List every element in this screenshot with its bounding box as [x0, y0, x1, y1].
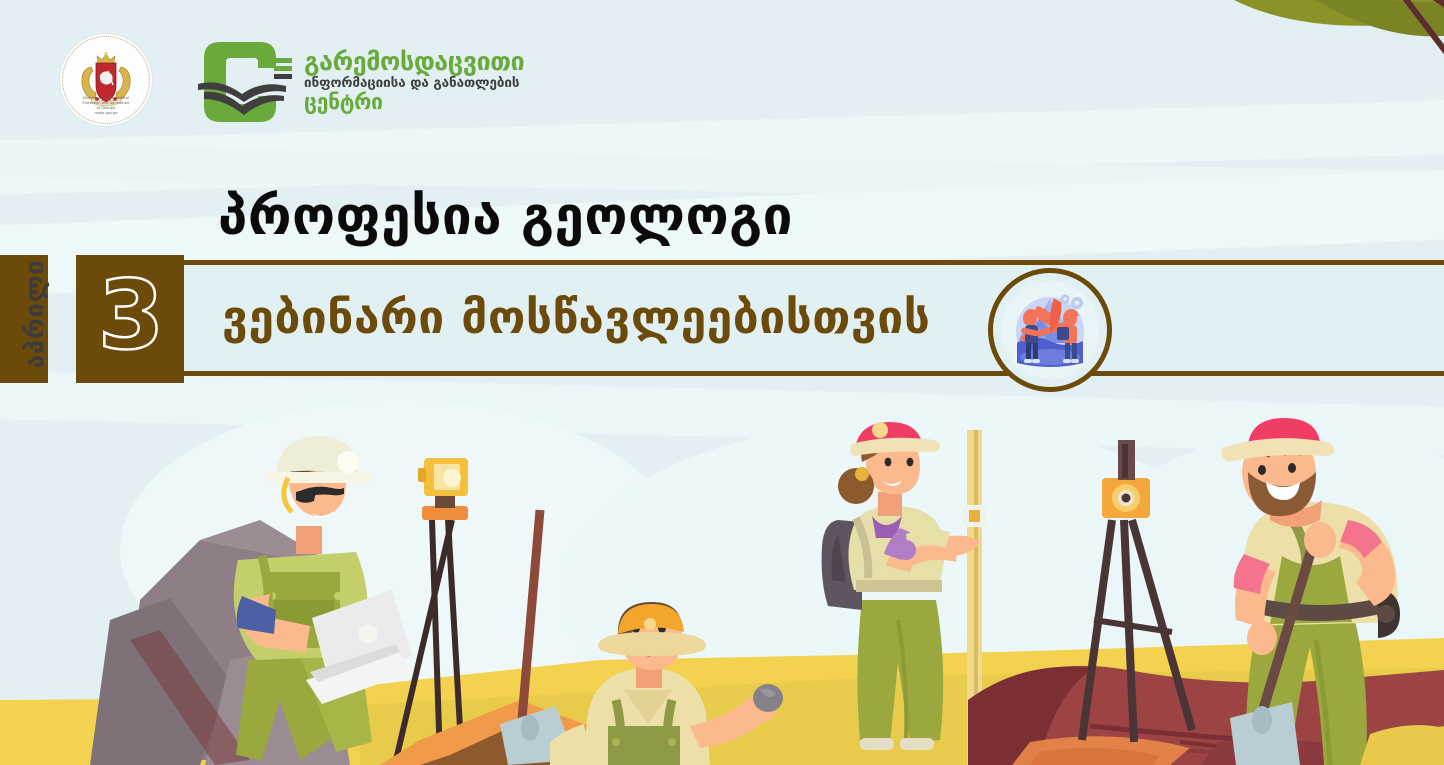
geology-fieldwork-scene	[0, 0, 1444, 765]
day-number-box: 3	[76, 255, 184, 383]
poster-root: Ministry of Environmental Protection and…	[0, 0, 1444, 765]
badge-inner-illustration	[1001, 281, 1099, 379]
page-subtitle: ვებინარი მოსწავლეებისთვის	[222, 290, 930, 344]
day-number: 3	[98, 269, 162, 364]
geologists-mountain-pickaxe-badge-icon	[988, 268, 1112, 392]
